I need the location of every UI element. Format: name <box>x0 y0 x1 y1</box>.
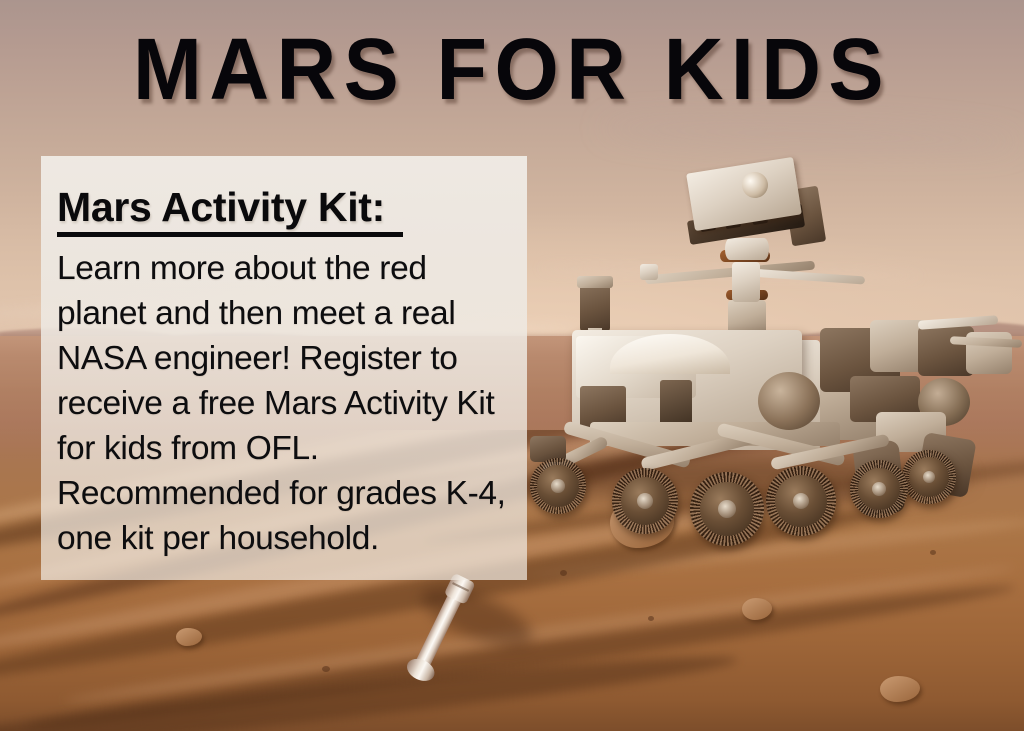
activity-kit-card: Mars Activity Kit: Learn more about the … <box>41 156 527 580</box>
ground-speck <box>322 666 330 672</box>
rover-mast-swivel <box>725 238 769 260</box>
rover-wheel <box>850 460 908 518</box>
rover-boom-tip <box>640 264 658 280</box>
card-body-text: Learn more about the red planet and then… <box>57 246 507 561</box>
ground-speck <box>560 570 567 576</box>
rover-wheel <box>530 458 586 514</box>
mars-rover <box>520 150 1024 490</box>
mars-for-kids-poster: MARS FOR KIDS Mars Activity Kit: Learn m… <box>0 0 1024 731</box>
page-title: MARS FOR KIDS <box>0 26 1024 111</box>
rover-rtg-cap <box>577 276 613 288</box>
rover-wheel <box>902 450 956 504</box>
ground-speck <box>930 550 936 555</box>
rover-instrument-box <box>660 380 692 428</box>
pebble <box>880 676 920 702</box>
card-heading: Mars Activity Kit: <box>57 184 403 237</box>
rover-wheel <box>612 468 678 534</box>
rover-mast-neck <box>732 262 760 302</box>
ground-speck <box>648 616 654 621</box>
rover-wheel <box>690 472 764 546</box>
rover-instrument-drum <box>758 372 820 430</box>
rover-wheel <box>766 466 836 536</box>
